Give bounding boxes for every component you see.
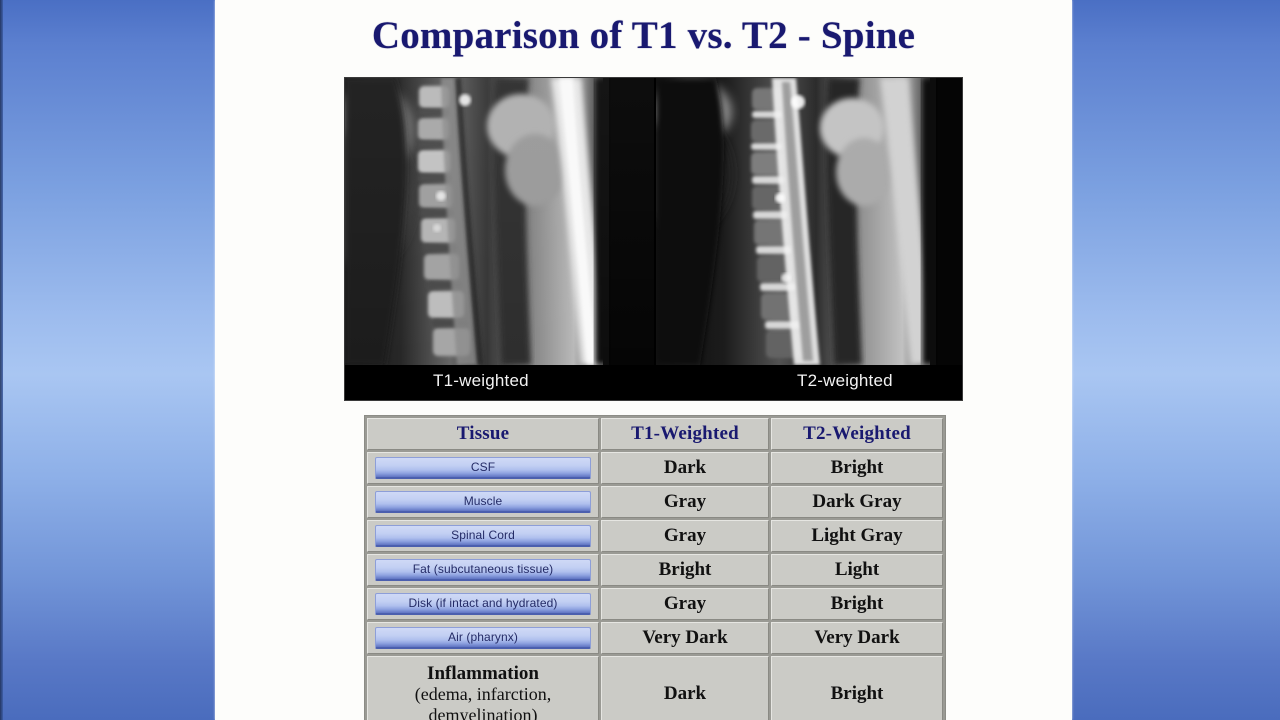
tissue-cell: Disk (if intact and hydrated) [367, 588, 599, 620]
inflammation-sub-line-1: (edema, infarction, [372, 684, 594, 704]
content-panel: Comparison of T1 vs. T2 - Spine [215, 0, 1072, 720]
t2-value-cell: Light [771, 554, 943, 586]
inflammation-title: Inflammation [372, 663, 594, 684]
table-header-row: Tissue T1-Weighted T2-Weighted [367, 418, 943, 450]
column-header-t2-weighted: T2-Weighted [771, 418, 943, 450]
tissue-comparison-table: Tissue T1-Weighted T2-Weighted CSF Dark … [364, 415, 946, 720]
table-row-inflammation: Inflammation (edema, infarction, demyeli… [367, 656, 943, 720]
inflammation-sub-line-2: demyelination) [372, 705, 594, 720]
t1-value-cell: Gray [601, 520, 769, 552]
t2-value-cell: Bright [771, 588, 943, 620]
caption-t2-weighted: T2-weighted [797, 371, 893, 391]
tissue-cell-inflammation: Inflammation (edema, infarction, demyeli… [367, 656, 599, 720]
table-row: CSF Dark Bright [367, 452, 943, 484]
tissue-cell: Fat (subcutaneous tissue) [367, 554, 599, 586]
tissue-pill-csf: CSF [375, 457, 591, 479]
t2-value-cell: Dark Gray [771, 486, 943, 518]
t1-value-cell: Dark [601, 452, 769, 484]
t1-value-cell: Very Dark [601, 622, 769, 654]
column-header-t1-weighted: T1-Weighted [601, 418, 769, 450]
table-row: Disk (if intact and hydrated) Gray Brigh… [367, 588, 943, 620]
caption-t1-weighted: T1-weighted [433, 371, 529, 391]
t2-value-cell: Very Dark [771, 622, 943, 654]
mri-caption-bar: T1-weighted T2-weighted [345, 365, 963, 400]
t1-value-cell: Gray [601, 588, 769, 620]
page-title: Comparison of T1 vs. T2 - Spine [215, 13, 1072, 58]
column-header-tissue: Tissue [367, 418, 599, 450]
tissue-pill-spinal-cord: Spinal Cord [375, 525, 591, 547]
t2-value-cell: Light Gray [771, 520, 943, 552]
mri-figure: T1-weighted T2-weighted [344, 77, 963, 401]
t1-spine-render [345, 78, 654, 365]
tissue-pill-air: Air (pharynx) [375, 627, 591, 649]
t2-value-cell: Bright [771, 656, 943, 720]
frame-edge-left [0, 0, 3, 720]
tissue-cell: Air (pharynx) [367, 622, 599, 654]
table-row: Spinal Cord Gray Light Gray [367, 520, 943, 552]
mri-image-t1-weighted [345, 78, 654, 365]
t1-value-cell: Dark [601, 656, 769, 720]
tissue-cell: Muscle [367, 486, 599, 518]
tissue-pill-disk: Disk (if intact and hydrated) [375, 593, 591, 615]
tissue-pill-muscle: Muscle [375, 491, 591, 513]
mri-image-t2-weighted [656, 78, 963, 365]
table-row: Fat (subcutaneous tissue) Bright Light [367, 554, 943, 586]
tissue-pill-fat: Fat (subcutaneous tissue) [375, 559, 591, 581]
table-row: Muscle Gray Dark Gray [367, 486, 943, 518]
t1-value-cell: Bright [601, 554, 769, 586]
tissue-cell: Spinal Cord [367, 520, 599, 552]
t2-value-cell: Bright [771, 452, 943, 484]
t2-spine-render [656, 78, 963, 365]
t1-value-cell: Gray [601, 486, 769, 518]
table-row: Air (pharynx) Very Dark Very Dark [367, 622, 943, 654]
slide-root: Comparison of T1 vs. T2 - Spine [0, 0, 1280, 720]
tissue-cell: CSF [367, 452, 599, 484]
